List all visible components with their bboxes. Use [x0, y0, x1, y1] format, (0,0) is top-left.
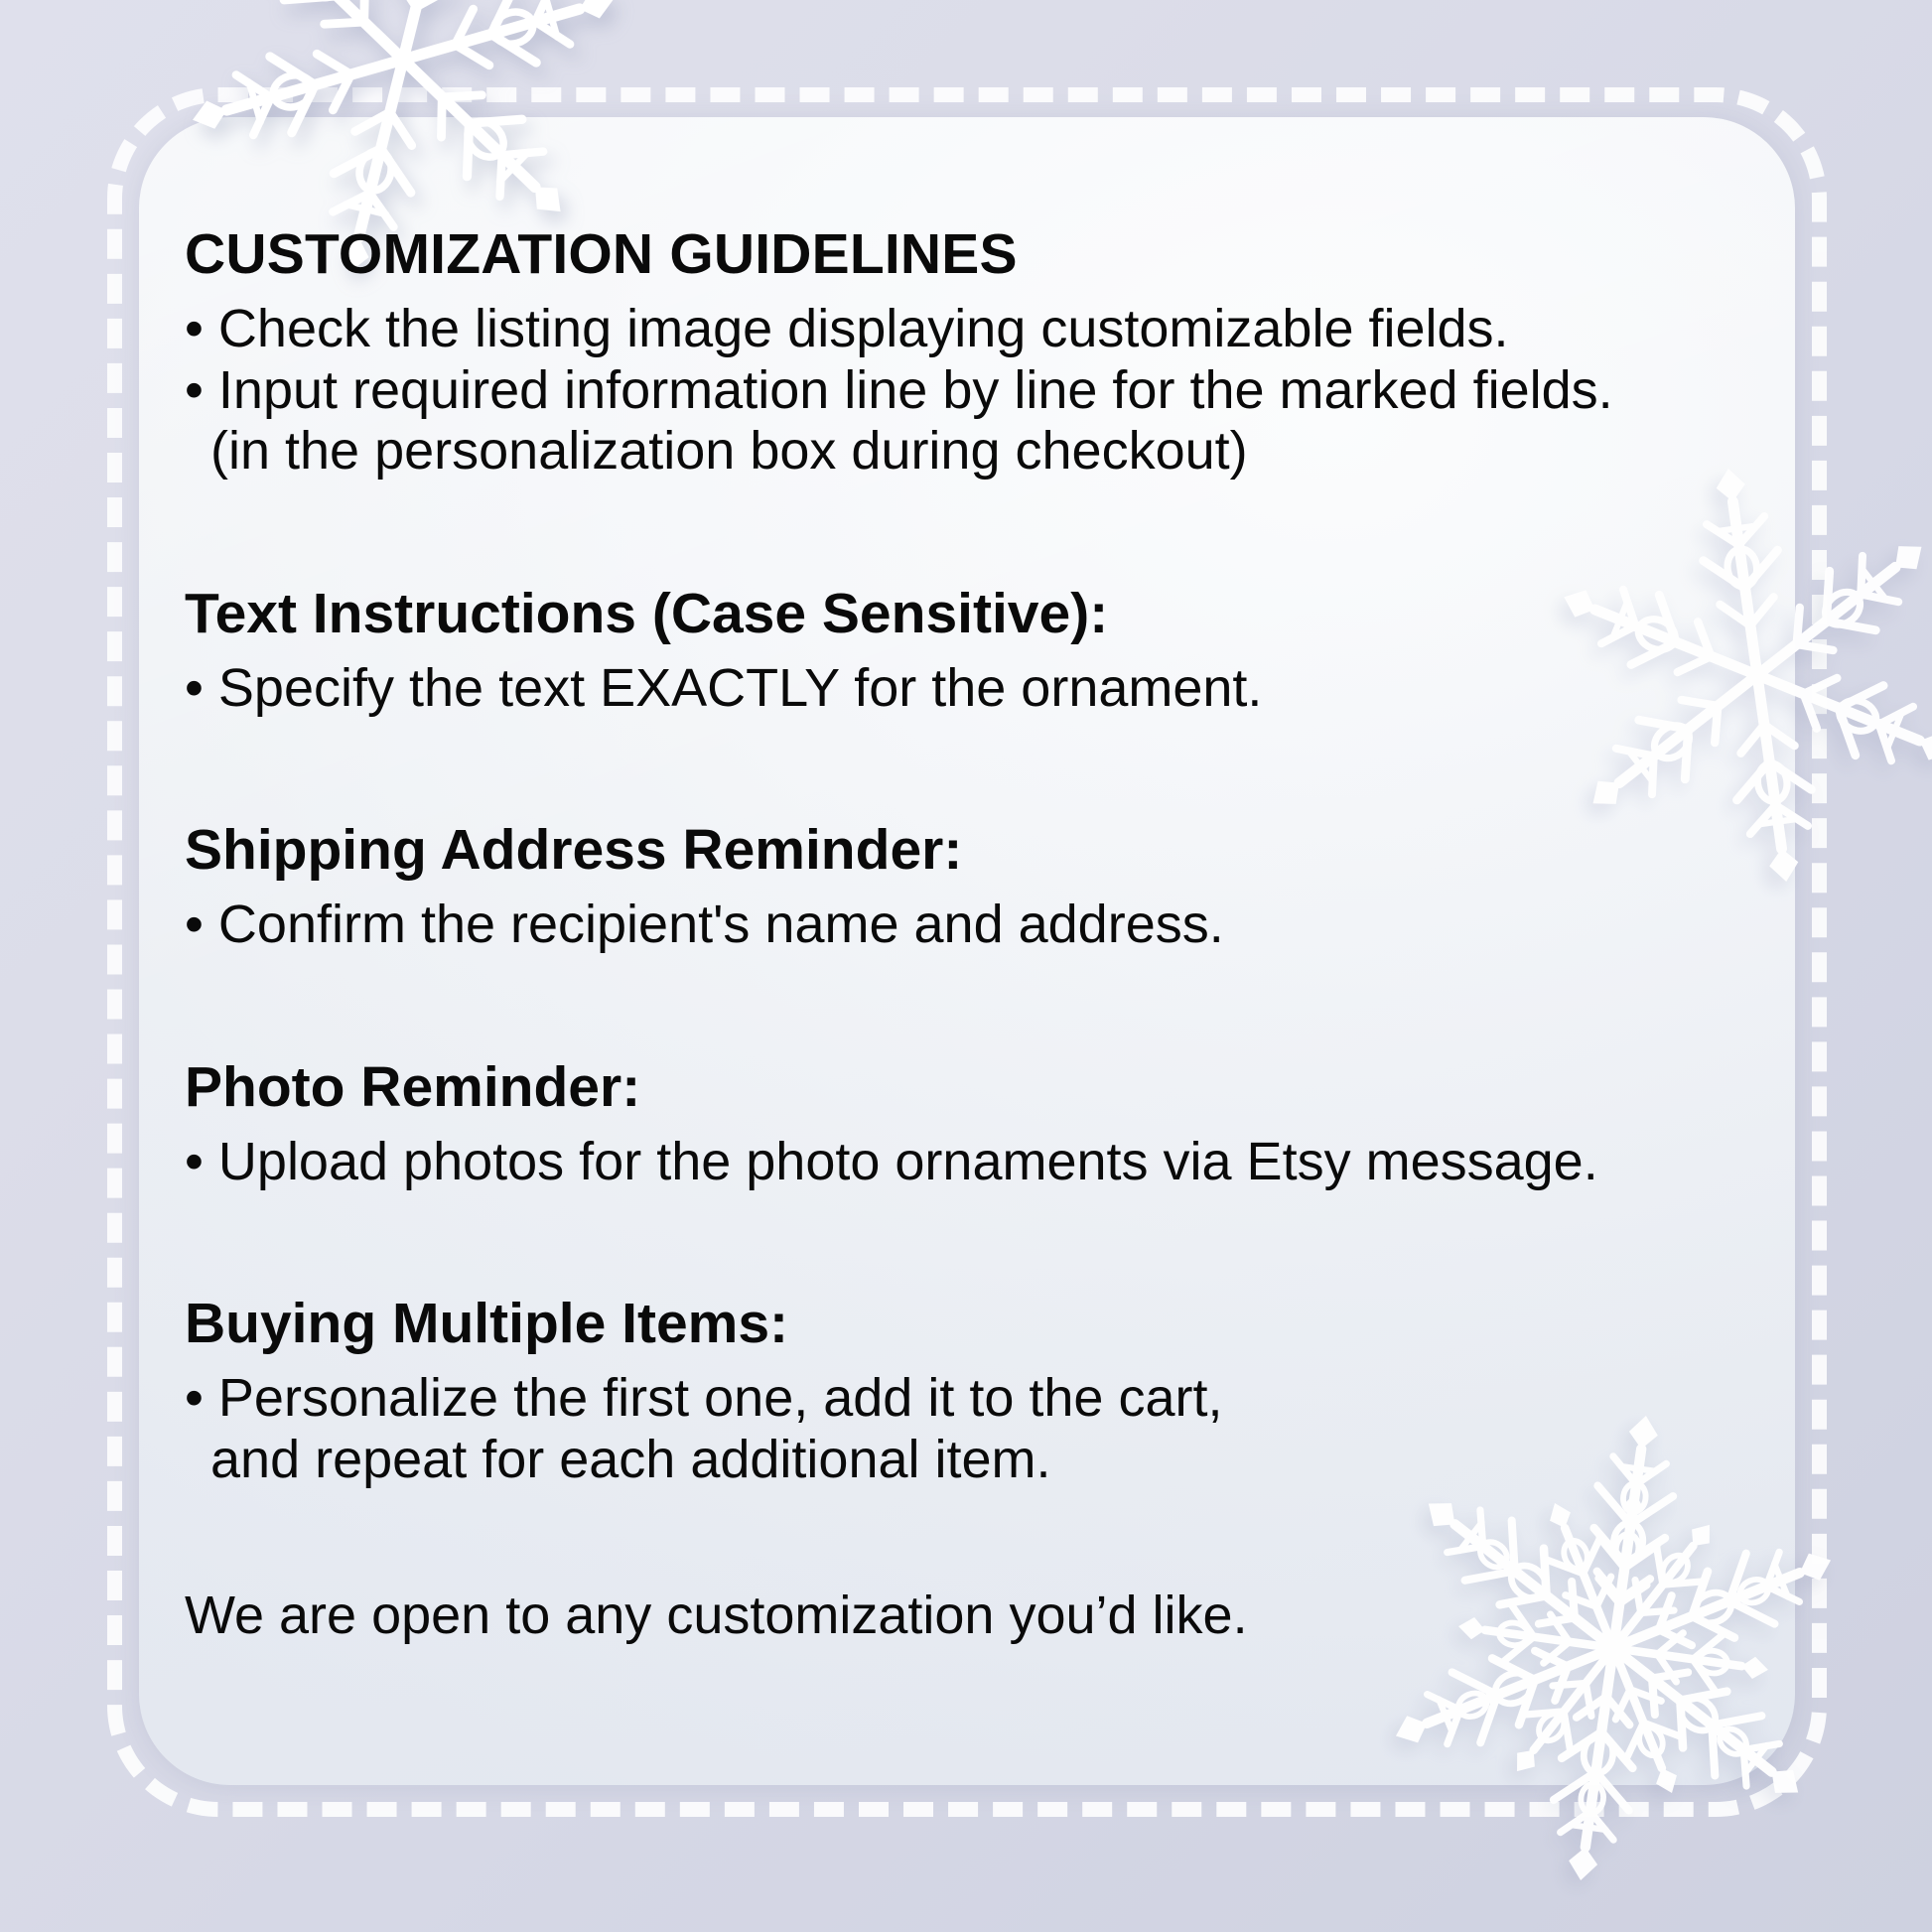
section-line: • Specify the text EXACTLY for the ornam… — [185, 658, 1654, 720]
section-shipping-address: Shipping Address Reminder: • Confirm the… — [185, 822, 1654, 956]
intro-bullet-2: • Input required information line by lin… — [185, 360, 1654, 422]
intro-bullet-3: (in the personalization box during check… — [185, 421, 1654, 483]
spacer — [185, 719, 1654, 822]
section-line: • Confirm the recipient's name and addre… — [185, 895, 1654, 956]
section-line: • Personalize the first one, add it to t… — [185, 1368, 1654, 1430]
section-heading: Shipping Address Reminder: — [185, 822, 1654, 879]
section-text-instructions: Text Instructions (Case Sensitive): • Sp… — [185, 586, 1654, 720]
spacer — [185, 1490, 1654, 1586]
section-heading: Text Instructions (Case Sensitive): — [185, 586, 1654, 642]
intro-bullet-1: • Check the listing image displaying cus… — [185, 299, 1654, 360]
section-buying-multiple: Buying Multiple Items: • Personalize the… — [185, 1296, 1654, 1490]
spacer — [185, 483, 1654, 586]
intro-block: CUSTOMIZATION GUIDELINES • Check the lis… — [185, 226, 1654, 483]
section-line: • Upload photos for the photo ornaments … — [185, 1132, 1654, 1193]
section-heading: Photo Reminder: — [185, 1059, 1654, 1116]
section-heading: Buying Multiple Items: — [185, 1296, 1654, 1352]
page-title: CUSTOMIZATION GUIDELINES — [185, 226, 1654, 283]
section-line: and repeat for each additional item. — [185, 1430, 1654, 1491]
poster-canvas: CUSTOMIZATION GUIDELINES • Check the lis… — [0, 0, 1932, 1932]
spacer — [185, 1192, 1654, 1296]
closing-note: We are open to any customization you’d l… — [185, 1586, 1654, 1647]
section-photo-reminder: Photo Reminder: • Upload photos for the … — [185, 1059, 1654, 1193]
spacer — [185, 956, 1654, 1059]
guidelines-content: CUSTOMIZATION GUIDELINES • Check the lis… — [185, 226, 1654, 1647]
